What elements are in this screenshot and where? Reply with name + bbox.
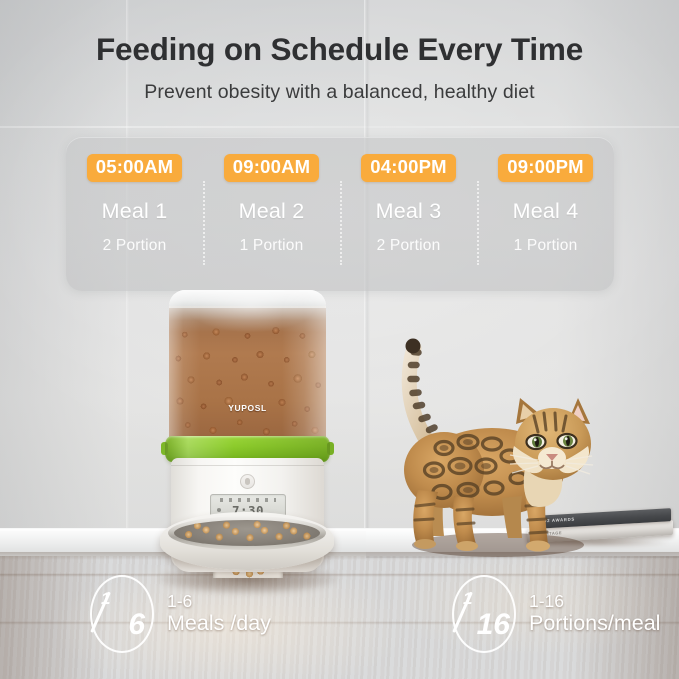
bowl-kibble <box>174 520 320 546</box>
feature-meals-per-day: 1 6 1-6 Meals /day <box>90 575 271 653</box>
bengal-cat <box>382 330 617 562</box>
feature-description: Portions/meal <box>529 611 660 637</box>
schedule-card: 09:00PM Meal 4 1 Portion <box>477 137 614 291</box>
feature-text-block: 1-6 Meals /day <box>167 591 271 637</box>
page-title: Feeding on Schedule Every Time <box>0 31 679 68</box>
feeding-schedule-panel: 05:00AM Meal 1 2 Portion 09:00AM Meal 2 … <box>66 137 614 291</box>
fraction-graphic: 1 16 <box>461 588 507 640</box>
time-badge: 05:00AM <box>87 154 183 182</box>
hopper-glass-gloss <box>169 290 326 441</box>
meal-label: Meal 3 <box>376 199 442 224</box>
ring-tab-right <box>327 442 334 455</box>
meal-label: Meal 2 <box>239 199 305 224</box>
schedule-card: 09:00AM Meal 2 1 Portion <box>203 137 340 291</box>
fraction-graphic: 1 6 <box>99 588 145 640</box>
portion-label: 1 Portion <box>514 237 578 255</box>
time-badge: 09:00PM <box>498 154 592 182</box>
portion-label: 2 Portion <box>103 237 167 255</box>
portion-label: 1 Portion <box>240 237 304 255</box>
page-subtitle: Prevent obesity with a balanced, healthy… <box>0 81 679 104</box>
microphone-icon[interactable] <box>240 474 255 489</box>
feature-description: Meals /day <box>167 611 271 637</box>
meal-label: Meal 4 <box>513 199 579 224</box>
feature-text-block: 1-16 Portions/meal <box>529 591 660 637</box>
schedule-card: 04:00PM Meal 3 2 Portion <box>340 137 477 291</box>
meal-label: Meal 1 <box>102 199 168 224</box>
time-badge: 09:00AM <box>224 154 320 182</box>
portion-label: 2 Portion <box>377 237 441 255</box>
schedule-card: 05:00AM Meal 1 2 Portion <box>66 137 203 291</box>
time-badge: 04:00PM <box>361 154 455 182</box>
body-seam <box>171 465 324 466</box>
ring-tab-left <box>161 442 168 455</box>
fraction-denominator: 16 <box>477 610 510 640</box>
fraction-circle: 1 16 <box>452 575 516 653</box>
fraction-circle: 1 6 <box>90 575 154 653</box>
lcd-segment-ticks <box>220 498 276 502</box>
feature-portions-per-meal: 1 16 1-16 Portions/meal <box>452 575 660 653</box>
bowl-interior <box>174 520 320 546</box>
automatic-pet-feeder: YUPOSL 7:30 <box>152 286 342 598</box>
feature-range: 1-6 <box>167 591 271 612</box>
brand-logo: YUPOSL <box>169 403 326 413</box>
food-hopper: YUPOSL <box>169 290 326 441</box>
fraction-denominator: 6 <box>128 610 145 640</box>
feature-range: 1-16 <box>529 591 660 612</box>
product-marketing-image: Feeding on Schedule Every Time Prevent o… <box>0 0 679 679</box>
